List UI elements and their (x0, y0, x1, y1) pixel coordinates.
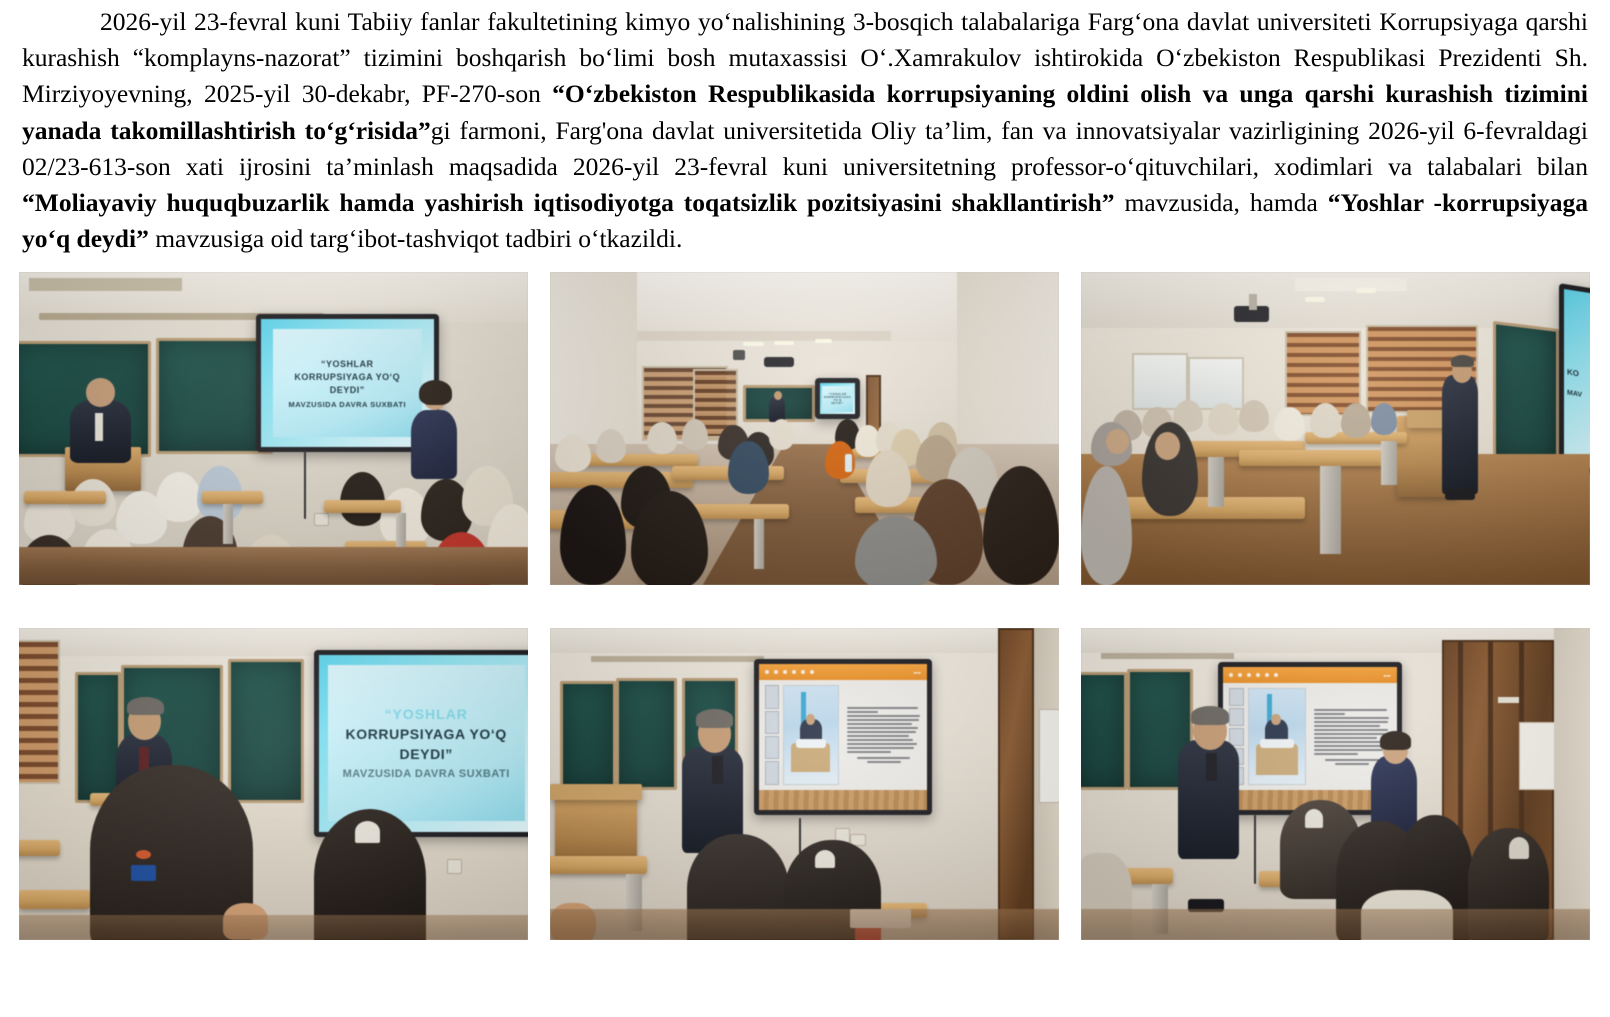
photo-gallery: “YOSHLAR KORRUPSIYAGA YO‘Q DEYDI” MAVZUS… (19, 272, 1590, 1017)
slide-line-2: KORRUPSIYAGA YO‘Q (294, 371, 400, 384)
presentation-screen-3: KO MAV (1559, 283, 1590, 477)
gallery-photo-5[interactable]: ●●● (550, 628, 1059, 940)
gallery-photo-2[interactable]: “YOSHLAR KORRUPSIYAGA YO‘Q DEYDI” (550, 272, 1059, 585)
gallery-photo-1[interactable]: “YOSHLAR KORRUPSIYAGA YO‘Q DEYDI” MAVZUS… (19, 272, 528, 585)
slide-line-2: MAV (1567, 389, 1582, 398)
slide-line-3: DEYDI” (400, 746, 453, 762)
article-paragraph: 2026-yil 23-fevral kuni Tabiiy fanlar fa… (22, 4, 1588, 257)
presentation-screen-2: “YOSHLAR KORRUPSIYAGA YO‘Q DEYDI” (815, 378, 861, 419)
document-page: 2026-yil 23-fevral kuni Tabiiy fanlar fa… (0, 0, 1610, 1015)
slide-line-3: DEYDI” (330, 384, 365, 397)
paragraph-run: mavzusida, hamda (1115, 188, 1328, 217)
slide-line-4: MAVZUSIDA DAVRA SUXBATI (288, 400, 406, 409)
slide-line-2: KORRUPSIYAGA YO‘Q (346, 726, 507, 742)
presentation-screen-4: “YOSHLAR KORRUPSIYAGA YO‘Q DEYDI” MAVZUS… (314, 650, 528, 837)
paragraph-run: mavzusiga oid targ‘ibot-tashviqot tadbir… (149, 224, 683, 253)
slide-line-1: “YOSHLAR (321, 358, 374, 371)
presentation-screen-5: ●●● (754, 659, 932, 815)
slide-line-1: “YOSHLAR (384, 706, 467, 722)
slide-line-3: DEYDI” (831, 402, 843, 405)
decree-text-block (843, 685, 921, 785)
gallery-photo-3[interactable]: KO MAV (1081, 272, 1590, 585)
slide-line-4: MAVZUSIDA DAVRA SUXBATI (343, 768, 510, 780)
gallery-photo-4[interactable]: “YOSHLAR KORRUPSIYAGA YO‘Q DEYDI” MAVZUS… (19, 628, 528, 940)
slide-line-1: KO (1567, 367, 1579, 378)
gallery-photo-6[interactable]: ●●● (1081, 628, 1590, 940)
paragraph-run-bold: “Moliayaviy huquqbuzarlik hamda yashiris… (22, 188, 1115, 217)
